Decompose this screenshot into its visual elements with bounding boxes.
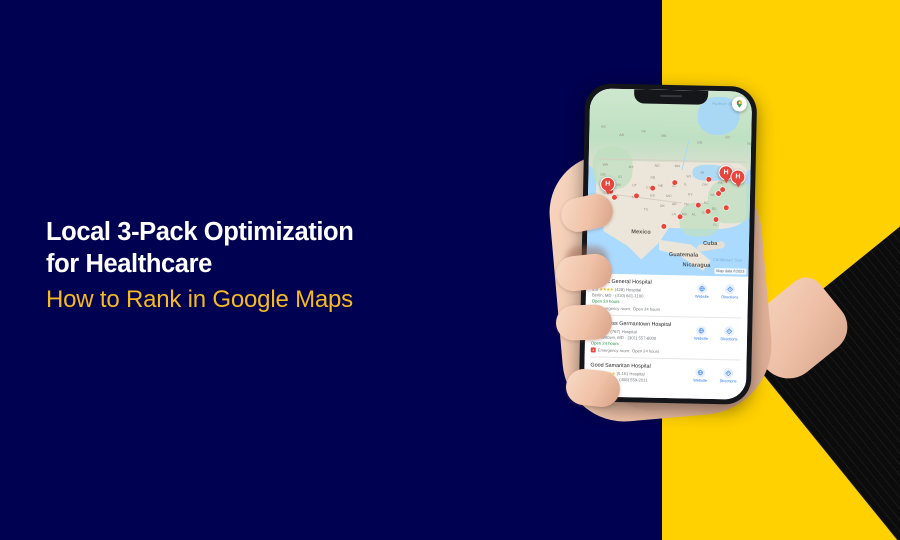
listing-card[interactable]: Atlantic General Hospital 3.8 ★★★★ (428)…	[591, 273, 742, 318]
listing-category: Hospital	[626, 287, 641, 292]
map-abbr: VA	[710, 193, 715, 197]
map-abbr: TN	[684, 202, 689, 206]
finger	[555, 304, 612, 341]
map-abbr: MT	[629, 165, 634, 169]
phone-screen: BC AB SK MB ON QC NL WA MT ND MN OR ID S…	[584, 88, 752, 399]
emergency-hours: Open 24 hours	[633, 306, 660, 312]
map-abbr: OK	[660, 204, 665, 208]
map-abbr: OH	[702, 183, 707, 187]
website-button[interactable]: Website	[691, 325, 711, 341]
map-abbr: NC	[704, 201, 709, 205]
map-abbr: MB	[661, 134, 666, 138]
directions-button[interactable]: Directions	[719, 326, 739, 342]
website-label: Website	[695, 295, 709, 299]
map-abbr: ID	[618, 175, 622, 179]
map-abbr: TX	[644, 207, 649, 211]
listing-card[interactable]: Holy Cross Germantown Hospital 2.6 ★★★ (…	[591, 315, 742, 360]
directions-label: Directions	[721, 296, 738, 300]
headline-subtitle: How to Rank in Google Maps	[46, 284, 476, 316]
map-label-guatemala: Guatemala	[669, 252, 699, 259]
directions-button[interactable]: Directions	[720, 284, 740, 300]
map-abbr: MO	[666, 194, 672, 198]
globe-icon	[697, 284, 707, 294]
map-abbr: ON	[697, 141, 702, 145]
map-abbr: IL	[684, 182, 687, 186]
earpiece-speaker	[660, 95, 682, 97]
map-label-nicaragua: Nicaragua	[682, 262, 710, 269]
map-pin-dot[interactable]	[672, 180, 677, 185]
map-abbr: LA	[672, 212, 676, 216]
map-abbr: SD	[650, 176, 655, 180]
map-pin-dot[interactable]	[696, 203, 701, 208]
website-button[interactable]: Website	[692, 284, 712, 300]
emergency-label: Emergency room:	[598, 347, 630, 353]
headline-line-1: Local 3-Pack Optimization	[46, 216, 476, 248]
directions-arrow-icon	[725, 284, 735, 294]
listing-emergency-row: + Emergency room: Open 24 hours	[591, 347, 741, 355]
website-label: Website	[693, 379, 707, 383]
directions-arrow-icon	[724, 326, 734, 336]
map-label-cuba: Cuba	[703, 241, 718, 247]
listing-actions: Website Directions	[690, 367, 738, 383]
map-pin-dot[interactable]	[713, 217, 718, 222]
map-pin-dot[interactable]	[706, 177, 711, 182]
map-pin-dot[interactable]	[706, 209, 711, 214]
map-abbr: NV	[616, 183, 621, 187]
review-count: (767)	[610, 328, 620, 333]
map-pin-dot[interactable]	[650, 186, 655, 191]
map-pin-dot[interactable]	[634, 193, 639, 198]
map-abbr: KY	[688, 192, 693, 196]
directions-label: Directions	[721, 337, 738, 341]
listing-actions: Website Directions	[692, 284, 740, 300]
map-abbr: MI	[700, 171, 704, 175]
map-abbr: WA	[603, 163, 609, 167]
map-abbr: ND	[655, 164, 660, 168]
map-abbr: FL	[713, 223, 717, 227]
map-attribution: Map data ©2023	[714, 268, 746, 275]
directions-label: Directions	[720, 379, 737, 383]
listing-category: Hospital	[629, 371, 644, 376]
map-abbr: QC	[725, 135, 730, 139]
google-maps-view[interactable]: BC AB SK MB ON QC NL WA MT ND MN OR ID S…	[586, 88, 752, 276]
map-abbr: MN	[675, 164, 681, 168]
map-label-mexico: Mexico	[631, 229, 651, 235]
website-button[interactable]: Website	[690, 367, 710, 383]
headline-block: Local 3-Pack Optimization for Healthcare…	[46, 216, 476, 316]
map-abbr: AB	[619, 133, 624, 137]
emergency-hours: Open 24 hours	[632, 348, 659, 354]
listing-emergency-row: + Emergency room: Open 24 hours	[592, 305, 742, 313]
review-count: (5.1K)	[617, 370, 629, 375]
listing-category: Hospital	[622, 329, 637, 334]
map-abbr: AL	[692, 212, 696, 216]
map-pin-dot[interactable]	[612, 195, 617, 200]
map-label-caribbean-sea: Caribbean Sea	[713, 257, 742, 263]
listing-actions: Website Directions	[691, 325, 739, 341]
phone-notch	[634, 89, 708, 105]
map-abbr: BC	[601, 125, 606, 129]
map-pin-dot[interactable]	[678, 214, 683, 219]
map-abbr: UT	[632, 183, 637, 187]
map-abbr: AR	[672, 202, 677, 206]
map-pin-dot[interactable]	[661, 224, 666, 229]
review-count: (428)	[615, 286, 625, 291]
map-abbr: WI	[686, 174, 690, 178]
map-abbr: NL	[747, 142, 752, 146]
directions-arrow-icon	[723, 368, 733, 378]
landmass-mexico	[603, 213, 678, 261]
map-abbr: SC	[712, 207, 717, 211]
map-abbr: KS	[650, 194, 655, 198]
banner-stage: Local 3-Pack Optimization for Healthcare…	[0, 0, 900, 540]
website-label: Website	[694, 337, 708, 341]
globe-icon	[695, 368, 705, 378]
globe-icon	[696, 326, 706, 336]
map-pin-dot[interactable]	[720, 187, 725, 192]
directions-button[interactable]: Directions	[718, 368, 738, 384]
map-pin-dot[interactable]	[724, 205, 729, 210]
emergency-cross-icon: +	[591, 347, 596, 352]
smartphone-device: BC AB SK MB ON QC NL WA MT ND MN OR ID S…	[579, 83, 758, 405]
map-abbr: NE	[658, 184, 663, 188]
headline-line-2: for Healthcare	[46, 248, 476, 280]
map-abbr: SK	[641, 129, 646, 133]
